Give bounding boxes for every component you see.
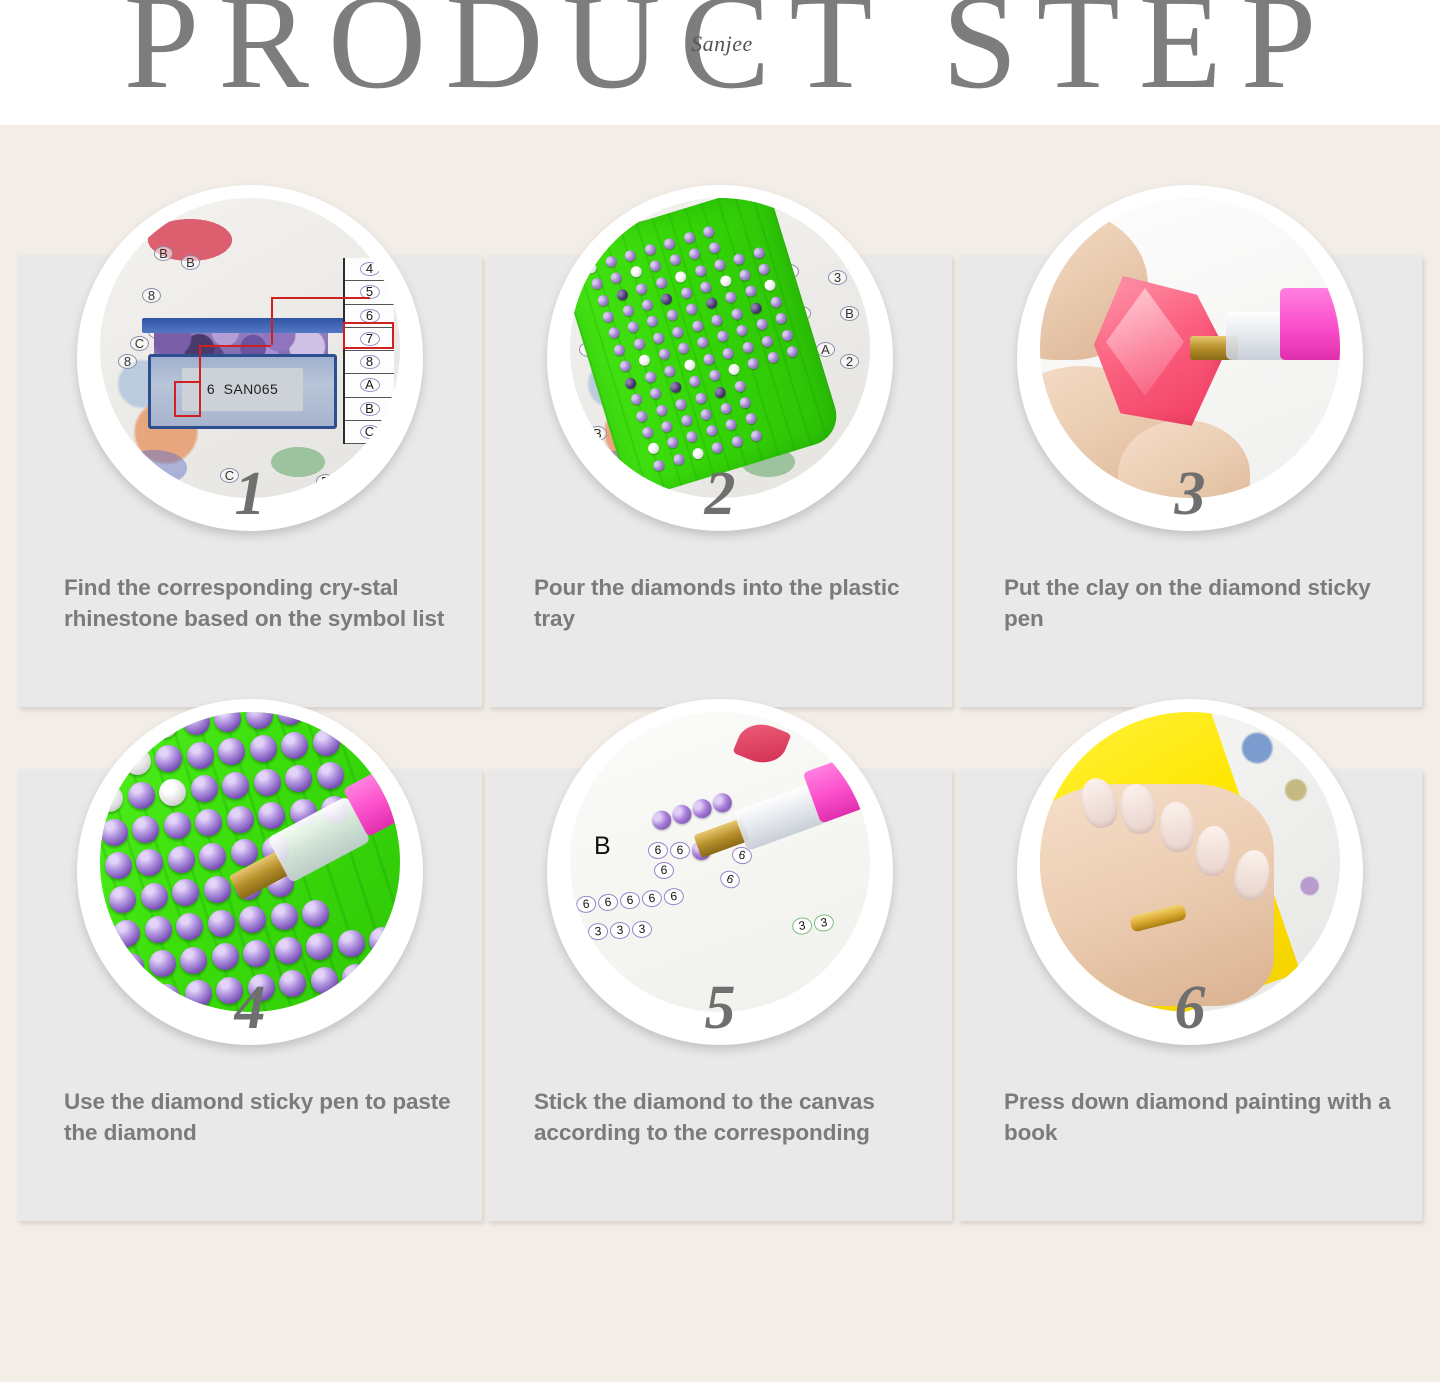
symbol-legend: 4 5 6 7 8 A B C xyxy=(343,258,394,444)
canvas-symbol: B xyxy=(316,474,335,489)
page-header: PRODUCT STEP Sanjee xyxy=(0,0,1440,125)
annotation-highlight-box xyxy=(174,381,201,417)
canvas-symbol: 6 xyxy=(575,895,596,914)
step-caption: Press down diamond painting with a book xyxy=(1004,1087,1392,1148)
photo-artwork xyxy=(1040,712,1340,1012)
step-number: 5 xyxy=(705,977,736,1039)
step-card: 3 Put the clay on the diamond sticky pen xyxy=(958,255,1422,707)
step-number: 4 xyxy=(235,977,266,1039)
photo-artwork xyxy=(1040,198,1340,498)
step-number: 1 xyxy=(235,463,266,525)
step-photo-frame: B 6 6 6 6 6 xyxy=(547,699,893,1045)
canvas-symbol: B xyxy=(840,306,859,321)
canvas-symbol: 6 xyxy=(648,842,668,859)
steps-grid: B B 8 8 8 C B C 6 SAN065 xyxy=(18,255,1422,1221)
pen-cap xyxy=(1280,288,1340,360)
step-caption: Stick the diamond to the canvas accordin… xyxy=(534,1087,922,1148)
bag-code: SAN065 xyxy=(224,381,279,397)
step-number: 6 xyxy=(1175,977,1206,1039)
legend-symbol: 8 xyxy=(360,355,380,369)
photo-artwork: B B 8 8 8 C B C 6 SAN065 xyxy=(100,198,400,498)
canvas-symbol: 3 xyxy=(632,920,653,938)
legend-symbol: 6 xyxy=(360,309,380,323)
annotation-line xyxy=(199,345,201,381)
photo-artwork: 7 3 B A A B 7 7 B B 6 3 2 xyxy=(570,198,870,498)
canvas-symbol: B xyxy=(594,832,611,861)
step-caption: Pour the diamonds into the plastic tray xyxy=(534,573,922,634)
step-photo-frame: 7 3 B A A B 7 7 B B 6 3 2 xyxy=(547,185,893,531)
canvas-symbol: 3 xyxy=(588,923,609,941)
legend-symbol: 4 xyxy=(360,262,380,276)
annotation-line xyxy=(271,297,273,345)
legend-symbol: A xyxy=(360,378,380,392)
clay-on-sticky-pen-photo xyxy=(1040,198,1340,498)
canvas-symbol: 6 xyxy=(597,893,618,912)
canvas-symbol: B xyxy=(588,426,607,441)
canvas-symbol: 3 xyxy=(791,916,813,936)
brand-watermark: Sanjee xyxy=(0,33,1440,55)
step-caption: Put the clay on the diamond sticky pen xyxy=(1004,573,1392,634)
canvas-symbol: 3 xyxy=(828,270,847,285)
canvas-symbol: 6 xyxy=(619,891,640,910)
canvas-symbol: B xyxy=(154,246,173,261)
legend-symbol: C xyxy=(360,425,380,439)
canvas-symbol: 6 xyxy=(654,862,674,879)
annotation-line xyxy=(271,297,370,299)
canvas-symbol: 3 xyxy=(813,913,835,933)
step-caption: Find the corresponding cry-stal rhinesto… xyxy=(64,573,452,634)
step-caption: Use the diamond sticky pen to paste the … xyxy=(64,1087,452,1148)
pen-picking-diamond-photo xyxy=(100,712,400,1012)
step-photo-frame: 6 xyxy=(1017,699,1363,1045)
pressing-with-book-photo xyxy=(1040,712,1340,1012)
step-photo-frame: B B 8 8 8 C B C 6 SAN065 xyxy=(77,185,423,531)
canvas-symbol: 6 xyxy=(670,842,690,859)
step-card: 6 Press down diamond painting with a boo… xyxy=(958,769,1422,1221)
step-number: 3 xyxy=(1175,463,1206,525)
placing-diamond-on-canvas-photo: B 6 6 6 6 6 xyxy=(570,712,870,1012)
step-card: 4 Use the diamond sticky pen to paste th… xyxy=(18,769,482,1221)
legend-symbol: B xyxy=(360,402,380,416)
green-tray-with-diamonds-photo: 7 3 B A A B 7 7 B B 6 3 2 xyxy=(570,198,870,498)
step-number: 2 xyxy=(705,463,736,525)
step-photo-frame: 3 xyxy=(1017,185,1363,531)
canvas-symbol: C xyxy=(130,336,149,351)
canvas-symbol: 8 xyxy=(142,288,161,303)
canvas-symbol: 6 xyxy=(641,889,662,908)
canvas-symbol: B xyxy=(181,255,200,270)
photo-artwork xyxy=(100,712,400,1012)
canvas-symbol: 8 xyxy=(118,354,137,369)
step-card: B B 8 8 8 C B C 6 SAN065 xyxy=(18,255,482,707)
annotation-highlight-box xyxy=(343,322,394,349)
bag-number: 6 xyxy=(207,381,215,397)
photo-artwork: B 6 6 6 6 6 xyxy=(570,712,870,1012)
annotation-line xyxy=(199,345,271,347)
step-photo-frame: 4 xyxy=(77,699,423,1045)
step-card: B 6 6 6 6 6 xyxy=(488,769,952,1221)
canvas-symbol: 3 xyxy=(610,921,631,939)
step-card: 7 3 B A A B 7 7 B B 6 3 2 xyxy=(488,255,952,707)
canvas-with-symbol-list-photo: B B 8 8 8 C B C 6 SAN065 xyxy=(100,198,400,498)
canvas-symbol: 6 xyxy=(663,887,684,906)
canvas-symbol: 2 xyxy=(840,354,859,369)
